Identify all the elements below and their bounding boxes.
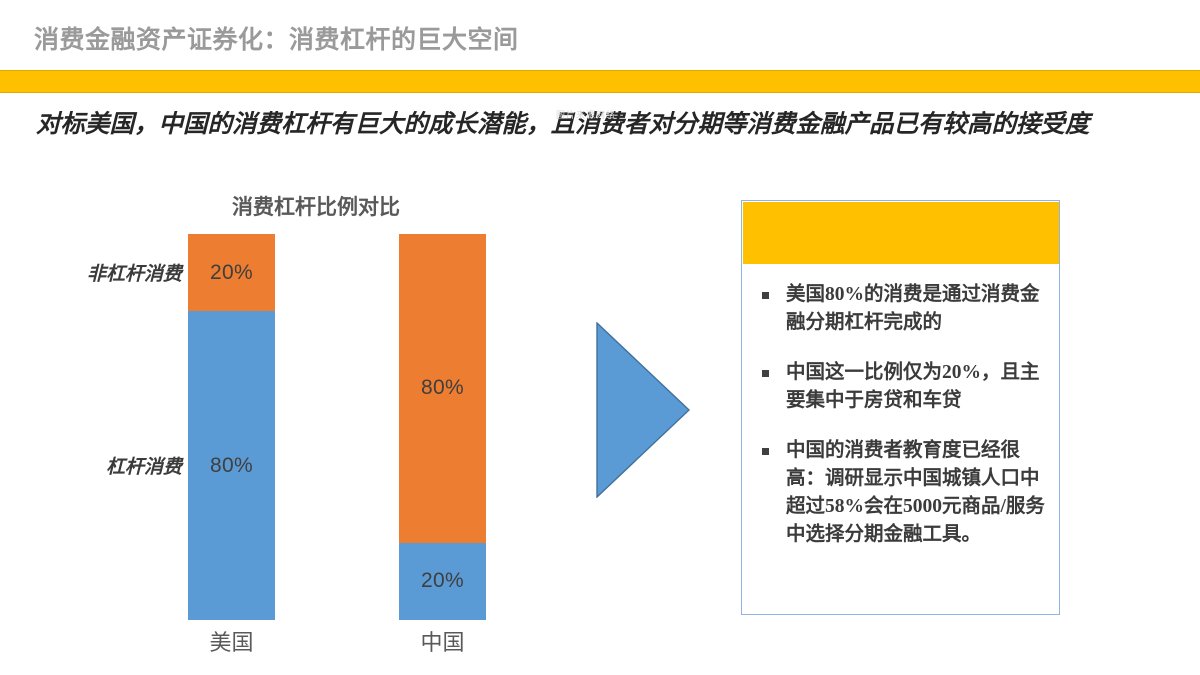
bar-segment-china-leverage: 20% — [399, 543, 486, 620]
list-item: 中国的消费者教育度已经很高：调研显示中国城镇人口中超过58%会在5000元商品/… — [756, 437, 1048, 549]
series-label-nonleverage: 非杠杆消费 — [62, 259, 182, 286]
bar-segment-us-leverage: 80% — [188, 311, 275, 620]
stacked-bar-chart: 消费杠杆比例对比 非杠杆消费 杠杆消费 20% 80% 80% 20% 美国 中… — [0, 185, 560, 660]
callout-box: 美国80%的消费是通过消费金融分期杠杆完成的 中国这一比例仅为20%，且主要集中… — [741, 200, 1060, 615]
bar-segment-us-nonleverage: 20% — [188, 234, 275, 311]
title-divider-bar — [0, 70, 1200, 93]
axis-tick-label-us: 美国 — [188, 625, 275, 657]
bar-segment-china-nonleverage: 80% — [399, 234, 486, 543]
list-item-text: 中国的消费者教育度已经很高：调研显示中国城镇人口中超过58%会在5000元商品/… — [786, 440, 1045, 545]
list-item-text: 美国80%的消费是通过消费金融分期杠杆完成的 — [786, 284, 1040, 333]
list-item-text: 中国这一比例仅为20%，且主要集中于房贷和车贷 — [786, 362, 1040, 411]
bar-column-us: 20% 80% — [188, 234, 275, 620]
square-bullet-icon — [762, 448, 769, 455]
chart-title: 消费杠杆比例对比 — [232, 191, 400, 221]
axis-tick-label-china: 中国 — [399, 625, 486, 657]
series-label-leverage: 杠杆消费 — [62, 452, 182, 479]
square-bullet-icon — [762, 370, 769, 377]
arrow-shape — [597, 323, 689, 497]
callout-bullet-list: 美国80%的消费是通过消费金融分期杠杆完成的 中国这一比例仅为20%，且主要集中… — [756, 281, 1048, 571]
bar-column-china: 80% 20% — [399, 234, 486, 620]
lead-paragraph: 对标美国，中国的消费杠杆有巨大的成长潜能，且消费者对分期等消费金融产品已有较高的… — [36, 108, 1156, 142]
right-triangle-arrow-icon — [596, 322, 691, 498]
square-bullet-icon — [762, 292, 769, 299]
callout-header-band — [743, 202, 1059, 264]
list-item: 美国80%的消费是通过消费金融分期杠杆完成的 — [756, 281, 1048, 337]
page-title: 消费金融资产证券化：消费杠杆的巨大空间 — [34, 20, 519, 56]
list-item: 中国这一比例仅为20%，且主要集中于房贷和车贷 — [756, 359, 1048, 415]
